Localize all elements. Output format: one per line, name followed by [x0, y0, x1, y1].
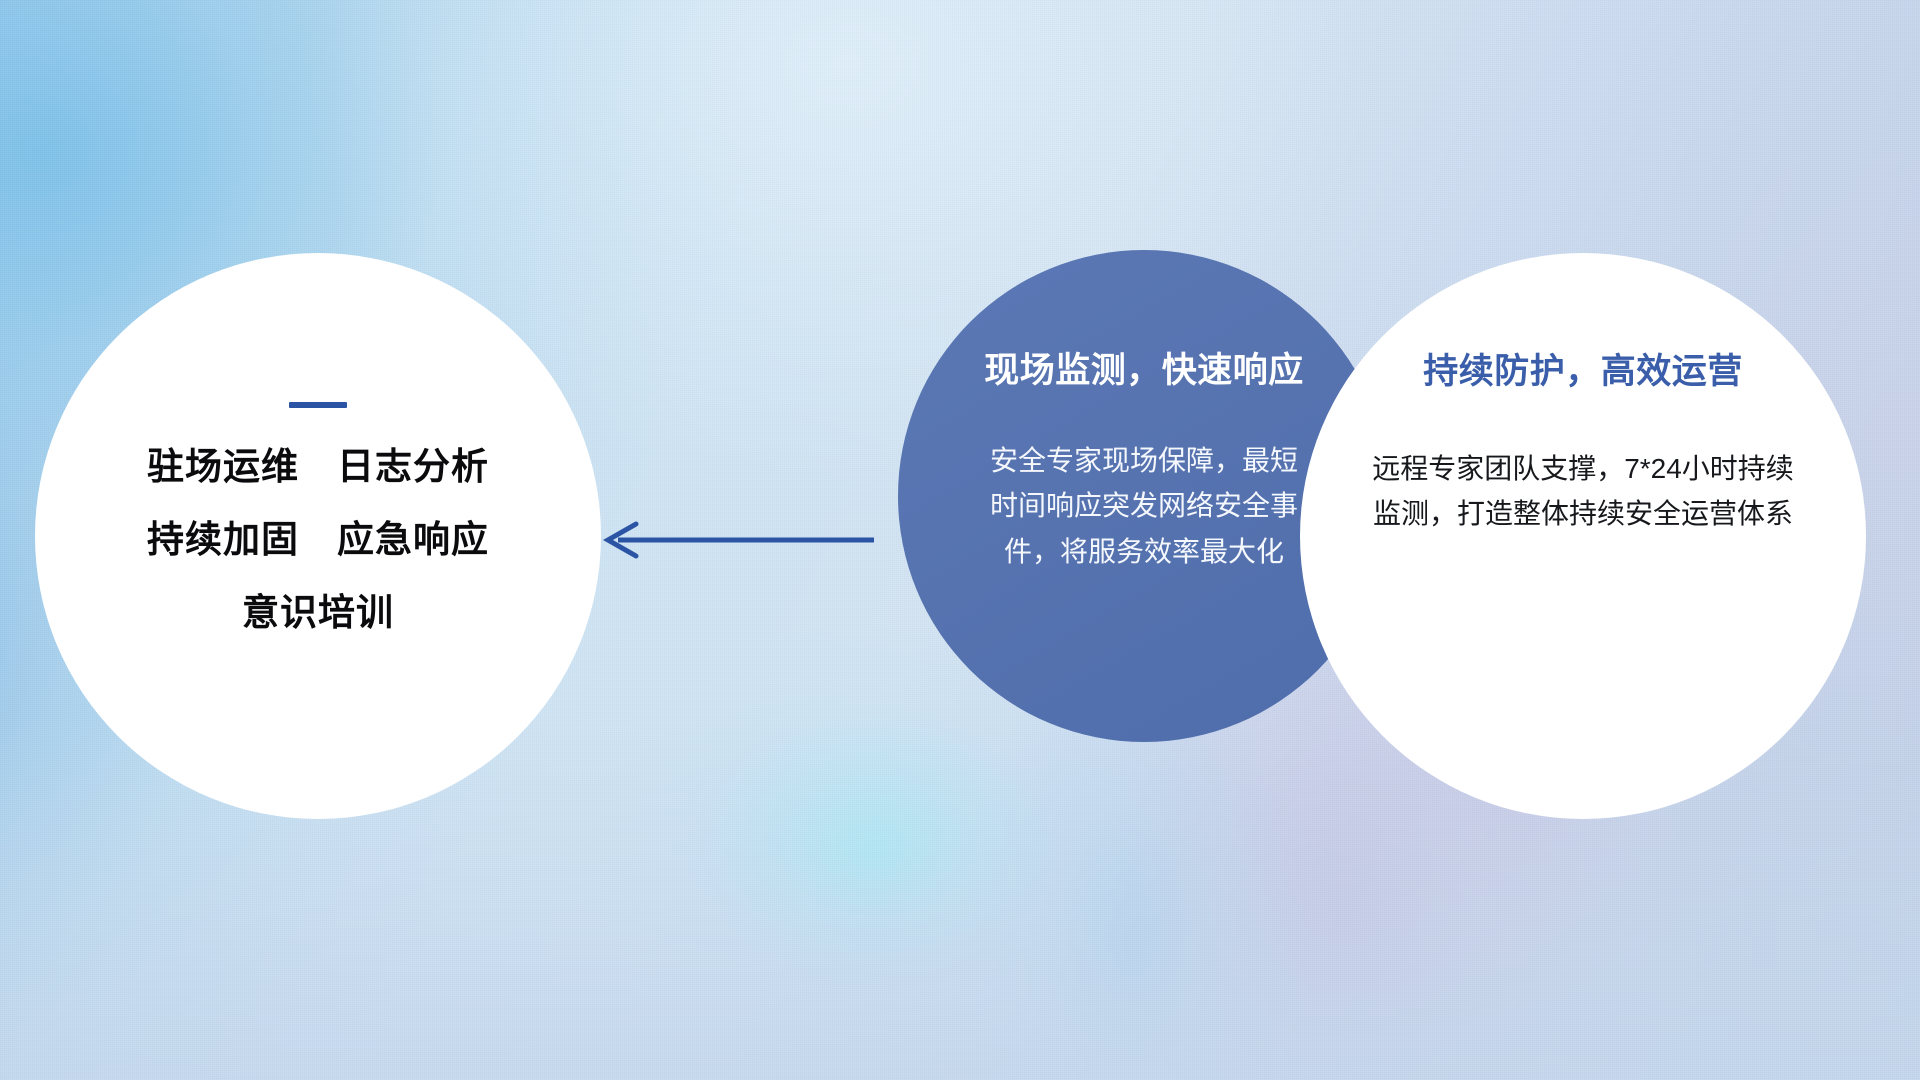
tag-row-1: 驻场运维 日志分析: [147, 448, 489, 485]
capability-tags-circle: 驻场运维 日志分析 持续加固 应急响应 意识培训: [35, 253, 601, 819]
tag-row-2: 持续加固 应急响应: [147, 521, 489, 558]
tag-onsite-ops: 驻场运维: [147, 448, 299, 485]
continuous-protection-body: 远程专家团队支撑，7*24小时持续监测，打造整体持续安全运营体系: [1368, 446, 1798, 537]
capability-tag-rows: 驻场运维 日志分析 持续加固 应急响应 意识培训: [35, 448, 601, 631]
onsite-monitoring-title: 现场监测，快速响应: [984, 342, 1304, 393]
accent-divider-dash: [289, 402, 347, 408]
tag-continuous-hardening: 持续加固: [147, 521, 299, 558]
continuous-protection-title: 持续防护，高效运营: [1423, 343, 1743, 394]
tag-awareness-training: 意识培训: [242, 594, 394, 631]
tag-emergency-response: 应急响应: [337, 521, 489, 558]
flow-arrow-left: [596, 512, 876, 568]
tag-log-analysis: 日志分析: [337, 448, 489, 485]
tag-row-3: 意识培训: [242, 594, 394, 631]
continuous-protection-circle: 持续防护，高效运营 远程专家团队支撑，7*24小时持续监测，打造整体持续安全运营…: [1300, 253, 1866, 819]
onsite-monitoring-body: 安全专家现场保障，最短时间响应突发网络安全事件，将服务效率最大化: [979, 438, 1309, 574]
slide-canvas: 驻场运维 日志分析 持续加固 应急响应 意识培训 现场监测，快速响应 安全专家现…: [0, 0, 1920, 1080]
